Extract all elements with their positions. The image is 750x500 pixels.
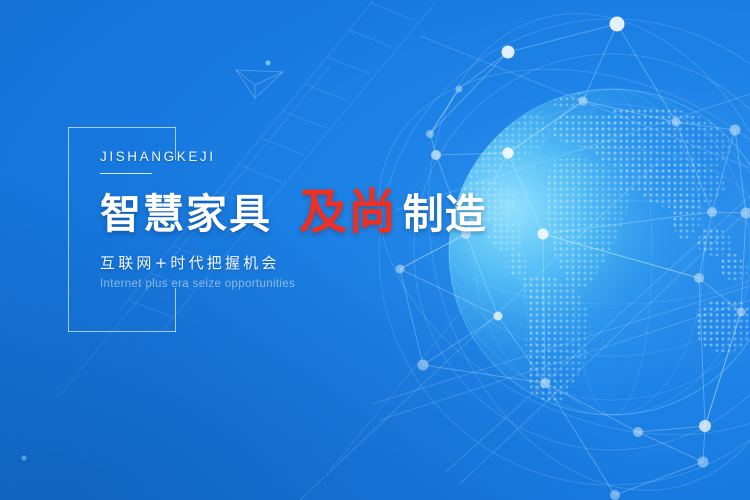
frame-right-edge-bottom [175, 288, 176, 332]
frame-top-edge [68, 127, 176, 128]
eyebrow-underline [100, 173, 152, 174]
subtitle-english: Internet plus era seize opportunities [100, 279, 520, 291]
frame-left-edge [68, 127, 69, 332]
brand-pinyin-label: JISHANGKEJI [100, 150, 520, 164]
frame-bottom-edge [68, 331, 176, 332]
page-title: 智慧家具 及尚 制造 [100, 188, 520, 236]
headline-part-2: 制造 [403, 190, 487, 238]
headline-part-1: 智慧家具 [100, 190, 272, 238]
headline-block: JISHANGKEJI 智慧家具 及尚 制造 互联网+时代把握机会 Intern… [100, 150, 520, 290]
headline-highlight: 及尚 [299, 184, 397, 240]
subtitle-chinese: 互联网+时代把握机会 [100, 256, 520, 271]
banner-root: JISHANGKEJI 智慧家具 及尚 制造 互联网+时代把握机会 Intern… [0, 0, 750, 500]
